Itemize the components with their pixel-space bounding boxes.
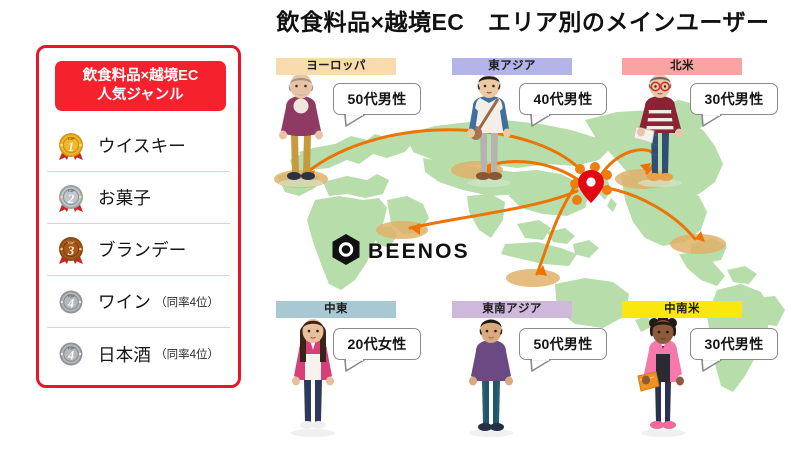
region-label-middle-east: 中東 xyxy=(276,301,396,318)
svg-text:2: 2 xyxy=(67,191,75,206)
ranking-item-4: TOP 4 ワイン （同率4位） xyxy=(47,276,230,328)
ranking-item-label: 日本酒 xyxy=(98,342,151,367)
ranking-item-label: ワイン xyxy=(98,289,151,314)
beenos-hexagon-icon xyxy=(331,233,361,271)
ranking-item-3: TOP 3 ブランデー xyxy=(47,224,230,276)
bubble-tail-europe xyxy=(344,114,366,127)
silver-medal-icon: TOP 2 xyxy=(55,182,87,214)
ranking-item-label: お菓子 xyxy=(98,185,151,210)
ranking-item-label: ウイスキー xyxy=(98,133,186,158)
bubble-text-middle-east: 20代女性 xyxy=(347,334,406,354)
bubble-tail-southeast-asia xyxy=(530,359,552,372)
bubble-text-southeast-asia: 50代男性 xyxy=(533,334,592,354)
grey-medal-icon: TOP 4 xyxy=(55,286,87,318)
svg-text:4: 4 xyxy=(67,296,74,310)
highlight-southeast-asia xyxy=(506,269,560,287)
ranking-header-line1: 飲食料品×越境EC xyxy=(83,67,199,86)
infographic-canvas: 飲食料品×越境EC エリア別のメインユーザー 飲食料品×越境EC 人気ジャンル xyxy=(0,0,800,457)
bubble-text-europe: 50代男性 xyxy=(347,89,406,109)
svg-text:1: 1 xyxy=(68,139,75,154)
person-europe xyxy=(268,75,334,187)
beenos-logo: BEENOS xyxy=(331,233,470,271)
bubble-tail-north-america xyxy=(701,114,723,127)
region-label-southeast-asia: 東南アジア xyxy=(452,301,572,318)
bubble-text-latin-america: 30代男性 xyxy=(704,334,763,354)
bubble-text-east-asia: 40代男性 xyxy=(533,89,592,109)
bubble-tail-latin-america xyxy=(701,359,723,372)
ranking-panel-header: 飲食料品×越境EC 人気ジャンル xyxy=(55,61,226,111)
bronze-medal-icon: TOP 3 xyxy=(55,234,87,266)
grey-medal-icon: TOP 4 xyxy=(55,338,87,370)
person-latin-america xyxy=(630,318,696,438)
ranking-item-1: TOP 1 ウイスキー xyxy=(47,120,230,172)
ranking-item-5: TOP 4 日本酒 （同率4位） xyxy=(47,328,230,380)
gold-medal-icon: TOP 1 xyxy=(55,130,87,162)
ranking-header-line2: 人気ジャンル xyxy=(97,86,183,105)
person-east-asia xyxy=(456,75,522,187)
region-label-north-america: 北米 xyxy=(622,58,742,75)
svg-text:3: 3 xyxy=(67,243,75,258)
ranking-list: TOP 1 ウイスキー T xyxy=(47,120,230,379)
bubble-text-north-america: 30代男性 xyxy=(704,89,763,109)
region-label-latin-america: 中南米 xyxy=(622,301,742,318)
ranking-item-note: （同率4位） xyxy=(155,294,219,310)
bubble-middle-east: 20代女性 xyxy=(333,328,421,360)
page-title: 飲食料品×越境EC エリア別のメインユーザー xyxy=(258,6,788,38)
person-southeast-asia xyxy=(458,318,524,438)
beenos-wordmark: BEENOS xyxy=(368,240,470,264)
bubble-europe: 50代男性 xyxy=(333,83,421,115)
region-label-east-asia: 東アジア xyxy=(452,58,572,75)
ranking-item-label: ブランデー xyxy=(98,237,187,262)
svg-text:4: 4 xyxy=(67,349,74,363)
bubble-southeast-asia: 50代男性 xyxy=(519,328,607,360)
bubble-tail-east-asia xyxy=(530,114,552,127)
ranking-item-note: （同率4位） xyxy=(155,346,219,362)
person-north-america xyxy=(627,75,693,187)
bubble-latin-america: 30代男性 xyxy=(690,328,778,360)
bubble-north-america: 30代男性 xyxy=(690,83,778,115)
region-label-europe: ヨーロッパ xyxy=(276,58,396,75)
bubble-tail-middle-east xyxy=(344,359,366,372)
ranking-item-2: TOP 2 お菓子 xyxy=(47,172,230,224)
bubble-east-asia: 40代男性 xyxy=(519,83,607,115)
ranking-panel: 飲食料品×越境EC 人気ジャンル TOP 1 xyxy=(36,45,241,388)
